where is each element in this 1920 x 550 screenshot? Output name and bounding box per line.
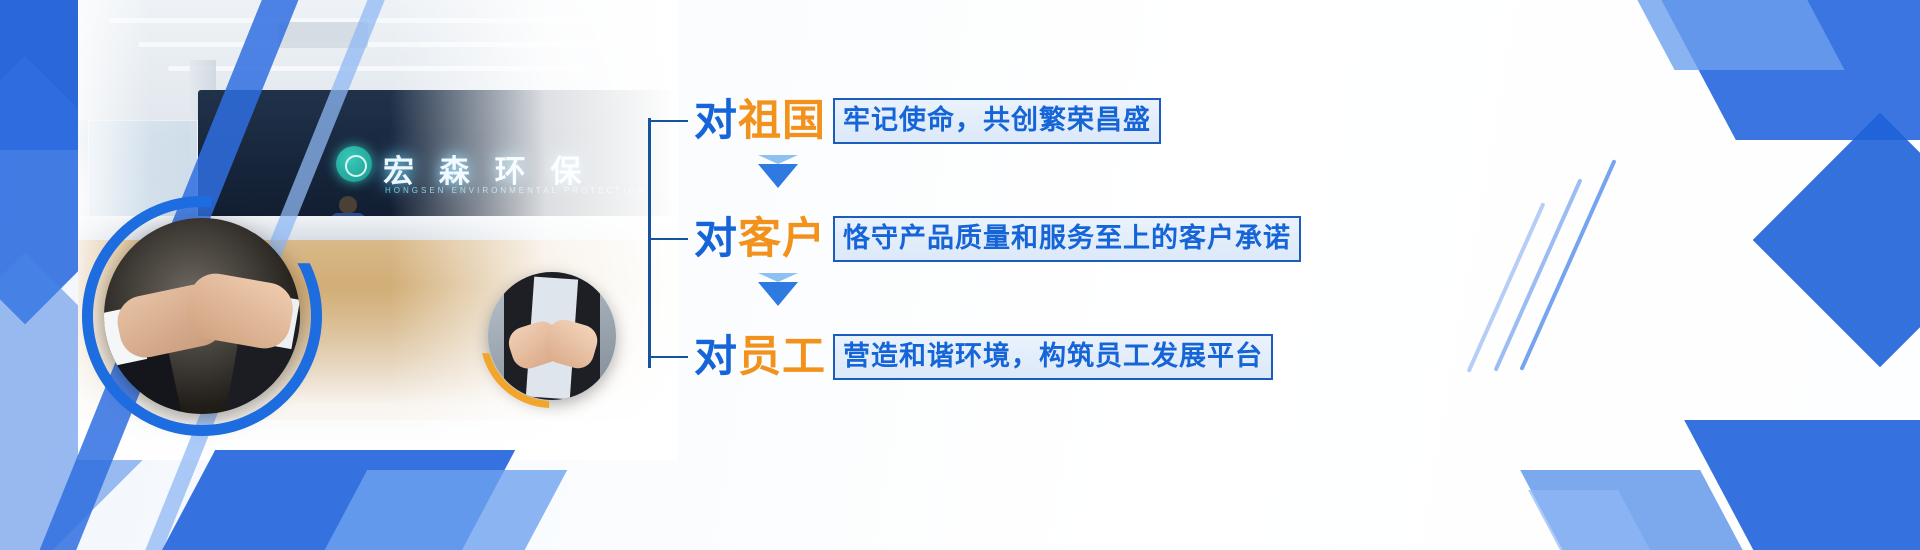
pledge-target: 员工 — [738, 332, 826, 382]
pledge-statement-country: 牢记使命，共创繁荣昌盛 — [833, 98, 1161, 144]
bracket-tick — [648, 238, 688, 241]
pledge-statement-customer: 恪守产品质量和服务至上的客户承诺 — [833, 216, 1301, 262]
decor-thin-line — [1519, 159, 1616, 371]
pledge-title-customer: 对客户 — [694, 218, 826, 261]
pledge-statement-employee: 营造和谐环境，构筑员工发展平台 — [833, 334, 1273, 380]
decor-diamond-right-mid — [1753, 113, 1920, 368]
bracket-tick — [648, 120, 688, 123]
pledge-title-country: 对祖国 — [694, 100, 826, 143]
handshake-circle-photo — [104, 218, 300, 414]
pledge-target: 祖国 — [738, 96, 826, 146]
pledge-row-employee: 对员工 营造和谐环境，构筑员工发展平台 — [648, 328, 1273, 386]
down-arrow-icon — [758, 282, 798, 306]
pledge-row-country: 对祖国 牢记使命，共创繁荣昌盛 — [648, 92, 1161, 150]
down-arrow-icon — [758, 164, 798, 188]
down-arrow-icon-cap — [758, 155, 798, 164]
decor-thin-line — [1493, 178, 1582, 371]
pledge-target: 客户 — [738, 214, 826, 264]
pledge-prefix: 对 — [694, 332, 738, 382]
pledge-prefix: 对 — [694, 214, 738, 264]
applause-circle-photo — [488, 272, 616, 400]
pledge-row-customer: 对客户 恪守产品质量和服务至上的客户承诺 — [648, 210, 1301, 268]
pledge-list: 对祖国 牢记使命，共创繁荣昌盛 对客户 恪守产品质量和服务至上的客户承诺 对员工… — [648, 74, 1348, 404]
bracket-tick — [648, 356, 688, 359]
down-arrow-icon-cap — [758, 273, 798, 282]
decor-shape-top-right-light — [1605, 0, 1844, 70]
promo-banner: 宏 森 环 保 HONGSEN ENVIRONMENTAL PROTECTION — [0, 0, 1920, 550]
pledge-title-employee: 对员工 — [694, 336, 826, 379]
pledge-prefix: 对 — [694, 96, 738, 146]
